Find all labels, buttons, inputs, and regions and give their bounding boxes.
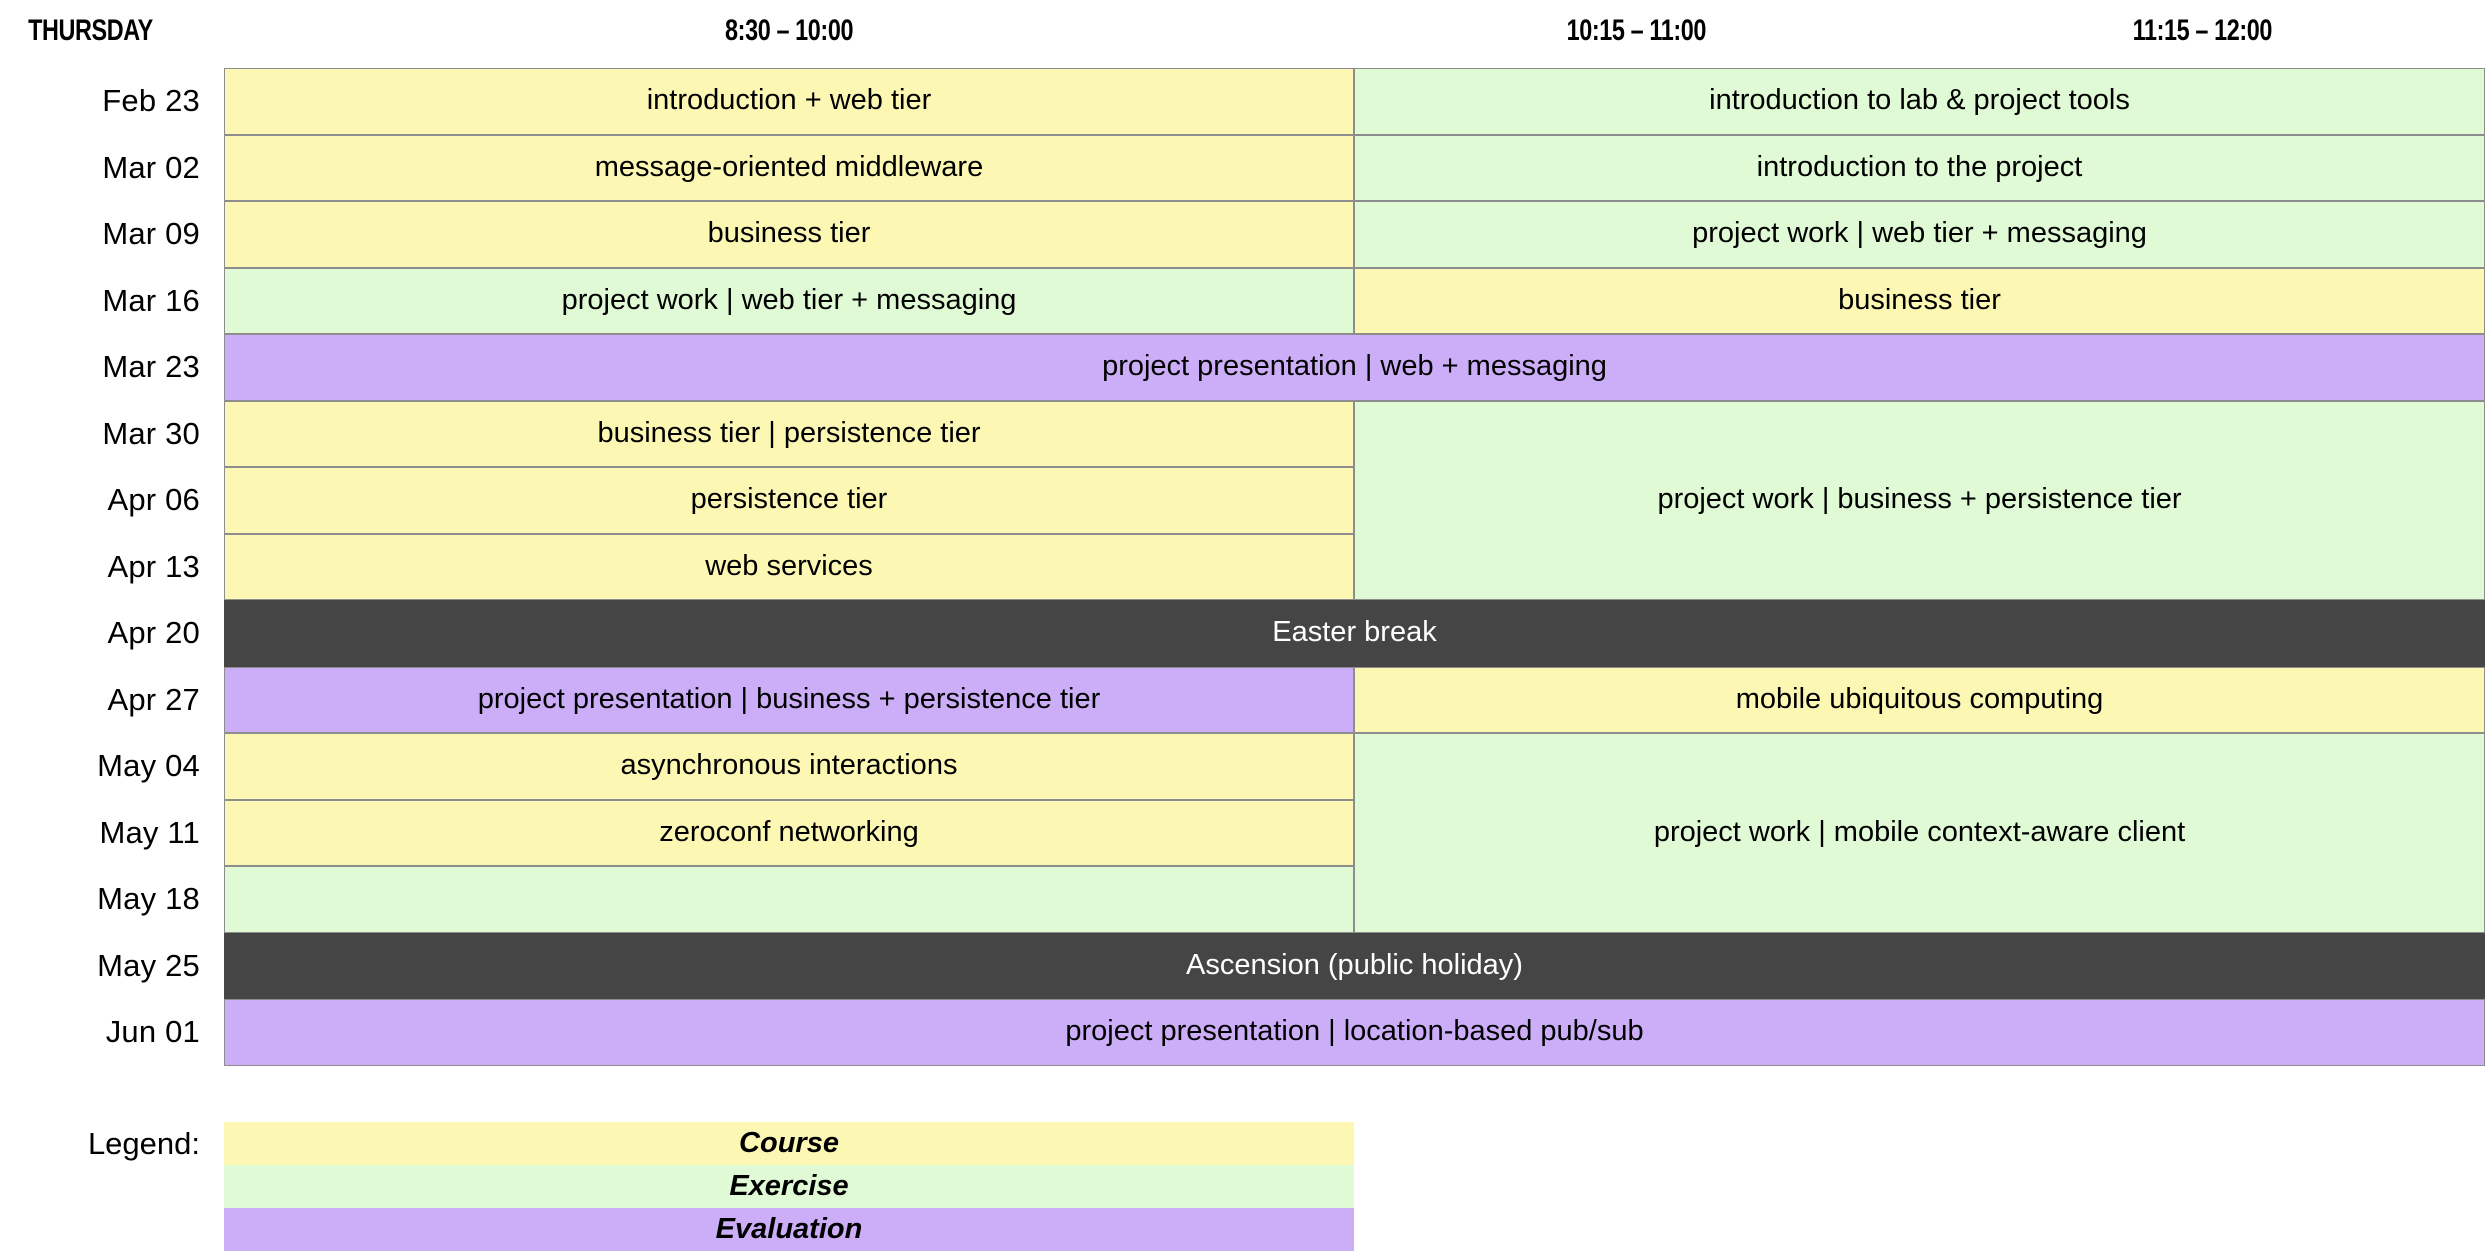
date-cell: Mar 09 (0, 201, 224, 268)
schedule-block-label: web services (705, 551, 873, 583)
date-cell: Apr 20 (0, 600, 224, 667)
schedule-block-label: asynchronous interactions (621, 750, 958, 782)
header-timeslot-3-text: 11:15 – 12:00 (2132, 14, 2271, 48)
legend: Legend: CourseExerciseEvaluation (0, 1122, 2485, 1251)
schedule-block-course[interactable]: asynchronous interactions (224, 733, 1354, 800)
date-cell: May 25 (0, 933, 224, 1000)
schedule-block-break[interactable]: Ascension (public holiday) (224, 933, 2485, 1000)
schedule-block-label: Ascension (public holiday) (1186, 950, 1523, 982)
schedule-block-course[interactable]: business tier (1354, 268, 2485, 335)
date-cell: Apr 13 (0, 534, 224, 601)
legend-entry-exercise: Exercise (224, 1165, 1354, 1208)
date-cell: May 11 (0, 800, 224, 867)
legend-entry-label: Evaluation (716, 1213, 863, 1246)
date-cell: Apr 27 (0, 667, 224, 734)
date-cell: Apr 06 (0, 467, 224, 534)
schedule-block-course[interactable]: message-oriented middleware (224, 135, 1354, 202)
schedule-block-label: business tier | persistence tier (597, 418, 980, 450)
date-cell: Mar 23 (0, 334, 224, 401)
schedule-block-label: message-oriented middleware (595, 152, 983, 184)
schedule-block-label: business tier (708, 218, 871, 250)
schedule-block-label: project work | web tier + messaging (562, 285, 1017, 317)
date-cell: Mar 30 (0, 401, 224, 468)
schedule-block-exercise[interactable]: project work | web tier + messaging (1354, 201, 2485, 268)
date-cell: Mar 16 (0, 268, 224, 335)
schedule-block-exercise[interactable]: introduction to the project (1354, 135, 2485, 202)
schedule-block-evaluation[interactable]: project presentation | business + persis… (224, 667, 1354, 734)
schedule-blocks-layer: introduction + web tierintroduction to l… (224, 68, 2485, 1065)
schedule-block-evaluation[interactable]: project presentation | location-based pu… (224, 999, 2485, 1066)
schedule-block-evaluation[interactable]: project presentation | web + messaging (224, 334, 2485, 401)
schedule-block-label: persistence tier (691, 484, 888, 516)
schedule-block-course[interactable]: persistence tier (224, 467, 1354, 534)
legend-bars: CourseExerciseEvaluation (224, 1122, 1354, 1251)
schedule-block-label: project presentation | business + persis… (478, 684, 1101, 716)
schedule-block-exercise[interactable]: project work | web tier + messaging (224, 268, 1354, 335)
schedule-block-label: project work | mobile context-aware clie… (1654, 817, 2185, 849)
date-cell: Jun 01 (0, 999, 224, 1066)
header-timeslot-1: 8:30 – 10:00 (224, 14, 1354, 48)
schedule-grid: Feb 23Mar 02Mar 09Mar 16Mar 23Mar 30Apr … (0, 68, 2485, 1066)
schedule-block-exercise[interactable]: project work | mobile context-aware clie… (1354, 733, 2485, 933)
header-day-label: THURSDAY (0, 14, 175, 48)
schedule-block-label: project work | business + persistence ti… (1657, 484, 2181, 516)
legend-entry-evaluation: Evaluation (224, 1208, 1354, 1251)
header-timeslot-3: 11:15 – 12:00 (1919, 14, 2485, 48)
schedule-block-course[interactable]: business tier | persistence tier (224, 401, 1354, 468)
schedule-block-break[interactable]: Easter break (224, 600, 2485, 667)
schedule-block-exercise[interactable] (224, 866, 1354, 933)
schedule-block-label: project presentation | location-based pu… (1065, 1016, 1643, 1048)
table-header-row: THURSDAY 8:30 – 10:00 10:15 – 11:00 11:1… (0, 0, 2485, 62)
legend-label: Legend: (0, 1122, 224, 1166)
schedule-block-exercise[interactable]: project work | business + persistence ti… (1354, 401, 2485, 601)
schedule-block-label: mobile ubiquitous computing (1736, 684, 2104, 716)
schedule-block-label: project work | web tier + messaging (1692, 218, 2147, 250)
legend-entry-course: Course (224, 1122, 1354, 1165)
schedule-block-course[interactable]: business tier (224, 201, 1354, 268)
legend-entry-label: Course (739, 1127, 839, 1160)
date-cell: Mar 02 (0, 135, 224, 202)
schedule-block-label: project presentation | web + messaging (1102, 351, 1607, 383)
date-cell: May 18 (0, 866, 224, 933)
header-timeslot-1-text: 8:30 – 10:00 (725, 14, 853, 48)
schedule-block-label: introduction to lab & project tools (1709, 85, 2130, 117)
schedule-block-course[interactable]: zeroconf networking (224, 800, 1354, 867)
date-cell: Feb 23 (0, 68, 224, 135)
header-timeslot-2: 10:15 – 11:00 (1354, 14, 1919, 48)
schedule-block-label: introduction to the project (1757, 152, 2083, 184)
date-cell: May 04 (0, 733, 224, 800)
schedule-block-exercise[interactable]: introduction to lab & project tools (1354, 68, 2485, 135)
schedule-block-course[interactable]: web services (224, 534, 1354, 601)
schedule-block-label: Easter break (1272, 617, 1436, 649)
schedule-block-label: introduction + web tier (647, 85, 932, 117)
legend-entry-label: Exercise (729, 1170, 848, 1203)
header-timeslot-2-text: 10:15 – 11:00 (1567, 14, 1706, 48)
schedule-block-course[interactable]: mobile ubiquitous computing (1354, 667, 2485, 734)
schedule-block-label: business tier (1838, 285, 2001, 317)
schedule-block-label: zeroconf networking (659, 817, 919, 849)
schedule-block-course[interactable]: introduction + web tier (224, 68, 1354, 135)
